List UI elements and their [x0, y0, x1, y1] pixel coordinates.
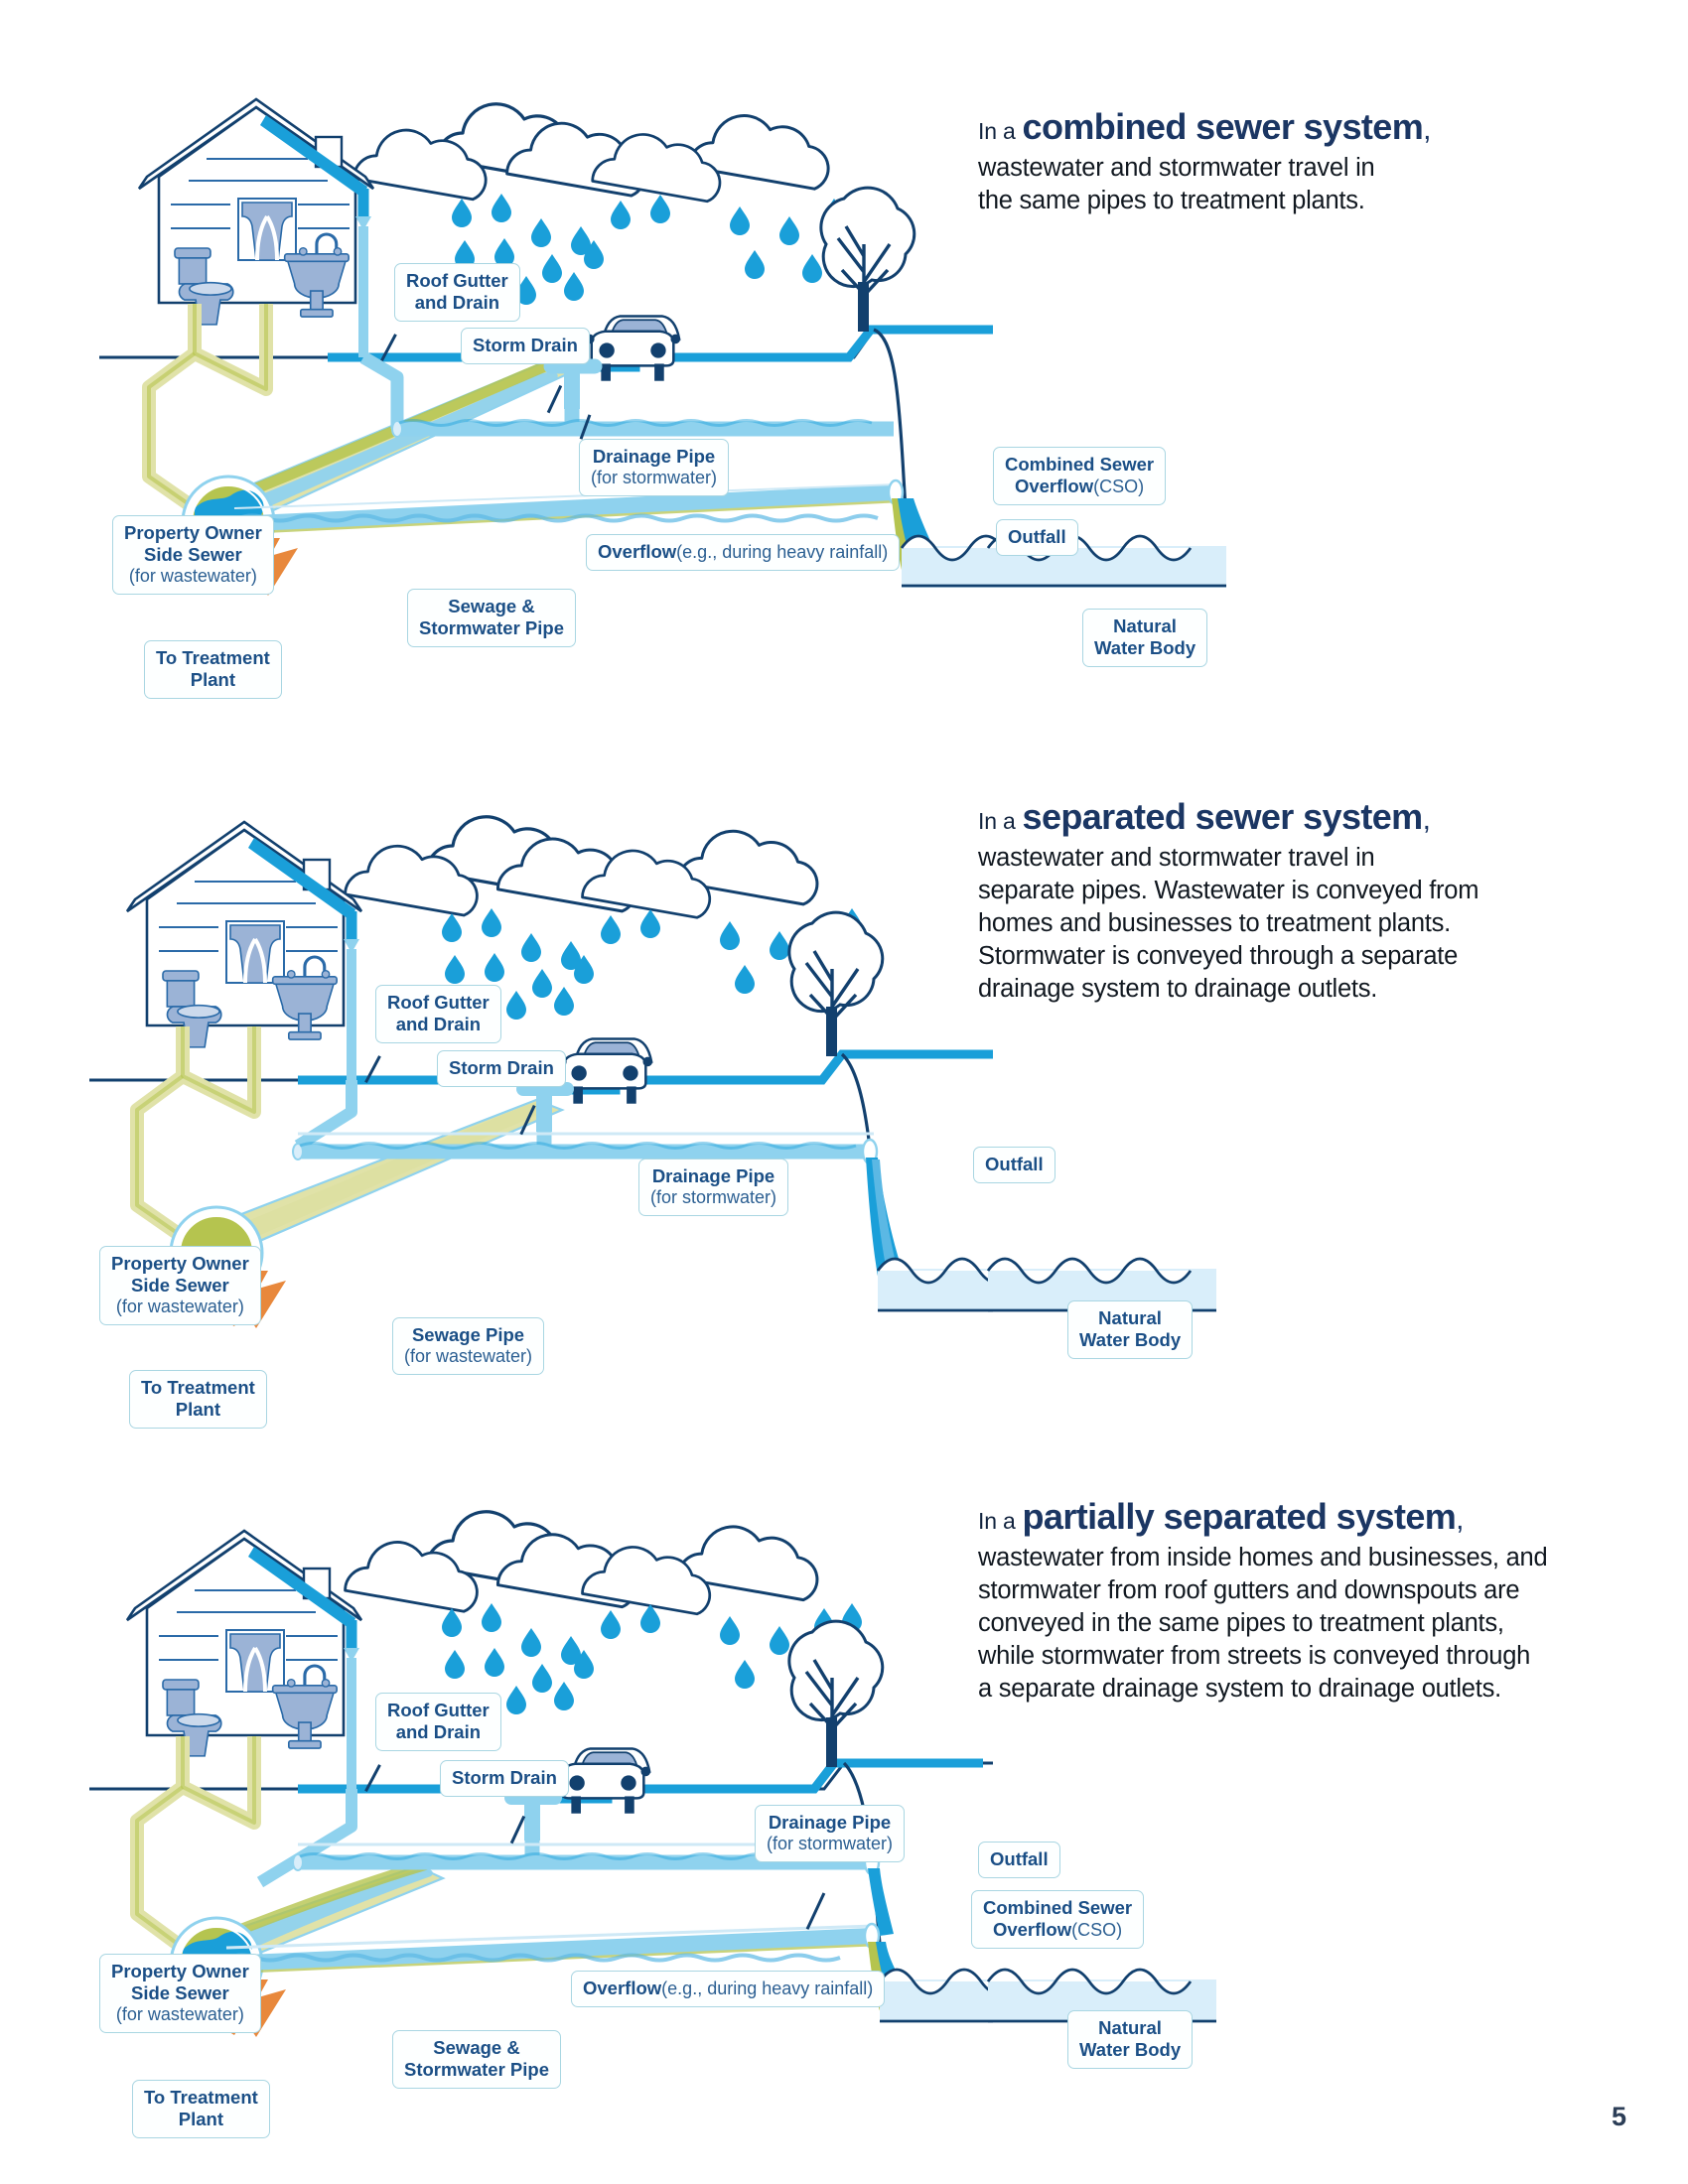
label-storm-drain: Storm Drain — [461, 328, 590, 364]
heading-body-combined: wastewater and stormwater travel in the … — [978, 152, 1614, 217]
label-overflow: Overflow(e.g., during heavy rainfall) — [571, 1971, 885, 2007]
label-to-treatment-plant: To Treatment Plant — [132, 2080, 270, 2138]
outfall-discharge-stormwater — [865, 1850, 894, 1936]
label-overflow: Overflow(e.g., during heavy rainfall) — [586, 534, 900, 571]
heading-block-combined: In a combined sewer system, wastewater a… — [978, 109, 1614, 217]
heading-block-partial: In a partially separated system, wastewa… — [978, 1499, 1614, 1706]
cloud-group-right — [593, 116, 828, 202]
label-storm-drain: Storm Drain — [437, 1050, 566, 1087]
combined-sewer-main — [224, 1926, 874, 1970]
label-property-owner-side-sewer: Property Owner Side Sewer (for wastewate… — [112, 515, 274, 595]
label-storm-drain: Storm Drain — [440, 1760, 569, 1797]
diagram-combined-sewer: Roof Gutter and Drain Storm Drain Draina… — [0, 60, 1688, 754]
label-outfall: Outfall — [978, 1842, 1060, 1878]
tree-icon — [821, 188, 914, 332]
tree-icon — [789, 1621, 883, 1767]
car-icon — [555, 1748, 650, 1813]
label-combined-sewer-overflow: Combined Sewer Overflow(CSO) — [993, 447, 1166, 505]
heading-body-partial: wastewater from inside homes and busines… — [978, 1542, 1614, 1706]
label-drainage-pipe: Drainage Pipe (for stormwater) — [579, 439, 729, 496]
house-icon — [127, 822, 361, 1047]
label-to-treatment-plant: To Treatment Plant — [144, 640, 282, 699]
window-icon — [226, 921, 284, 983]
heading-body-separated: wastewater and stormwater travel in sepa… — [978, 842, 1614, 1007]
label-sewage-pipe: Sewage Pipe (for wastewater) — [392, 1317, 544, 1375]
house-icon — [139, 99, 373, 325]
tree-icon — [789, 912, 883, 1056]
cloud-group-right — [583, 1527, 817, 1614]
label-roof-gutter: Roof Gutter and Drain — [375, 1693, 501, 1751]
infographic-page: Roof Gutter and Drain Storm Drain Draina… — [0, 0, 1688, 2184]
label-roof-gutter: Roof Gutter and Drain — [375, 985, 501, 1043]
property-owner-side-sewer-pipe — [137, 1026, 254, 1237]
diagram-partially-separated: Roof Gutter and Drain Storm Drain Draina… — [0, 1489, 1688, 2184]
label-property-owner-side-sewer: Property Owner Side Sewer (for wastewate… — [99, 1954, 261, 2033]
natural-water-body — [902, 536, 1003, 588]
heading-line-combined: In a combined sewer system, — [978, 109, 1614, 146]
natural-water-body — [880, 1970, 1015, 2021]
label-roof-gutter: Roof Gutter and Drain — [394, 263, 520, 322]
page-number: 5 — [1612, 2102, 1626, 2132]
label-sewage-stormwater-pipe: Sewage & Stormwater Pipe — [407, 589, 576, 647]
drainage-pipe — [293, 1096, 874, 1160]
diagram-separated-sewer: Roof Gutter and Drain Storm Drain Draina… — [0, 784, 1688, 1479]
heading-line-separated: In a separated sewer system, — [978, 799, 1614, 836]
label-natural-water-body: Natural Water Body — [1082, 609, 1207, 667]
heading-block-separated: In a separated sewer system, wastewater … — [978, 799, 1614, 1006]
cloud-group-left — [353, 104, 644, 200]
label-sewage-stormwater-pipe: Sewage & Stormwater Pipe — [392, 2030, 561, 2089]
property-owner-side-sewer-pipe — [137, 1736, 254, 1948]
window-icon — [226, 1630, 284, 1692]
label-outfall: Outfall — [973, 1147, 1055, 1183]
label-combined-sewer-overflow: Combined Sewer Overflow(CSO) — [971, 1890, 1144, 1949]
cloud-group-right — [583, 831, 817, 917]
combined-sewer-main — [234, 484, 898, 530]
label-natural-water-body: Natural Water Body — [1067, 1300, 1193, 1359]
label-natural-water-body: Natural Water Body — [1067, 2010, 1193, 2069]
property-owner-side-sewer-pipe — [149, 304, 266, 508]
natural-water-body — [878, 1259, 1013, 1310]
label-drainage-pipe: Drainage Pipe (for stormwater) — [755, 1805, 905, 1862]
window-icon — [238, 199, 296, 260]
heading-line-partial: In a partially separated system, — [978, 1499, 1614, 1536]
cloud-group-left — [346, 817, 636, 915]
label-outfall: Outfall — [996, 519, 1078, 556]
label-to-treatment-plant: To Treatment Plant — [129, 1370, 267, 1429]
label-property-owner-side-sewer: Property Owner Side Sewer (for wastewate… — [99, 1246, 261, 1325]
house-icon — [127, 1531, 361, 1756]
label-drainage-pipe: Drainage Pipe (for stormwater) — [638, 1159, 788, 1216]
